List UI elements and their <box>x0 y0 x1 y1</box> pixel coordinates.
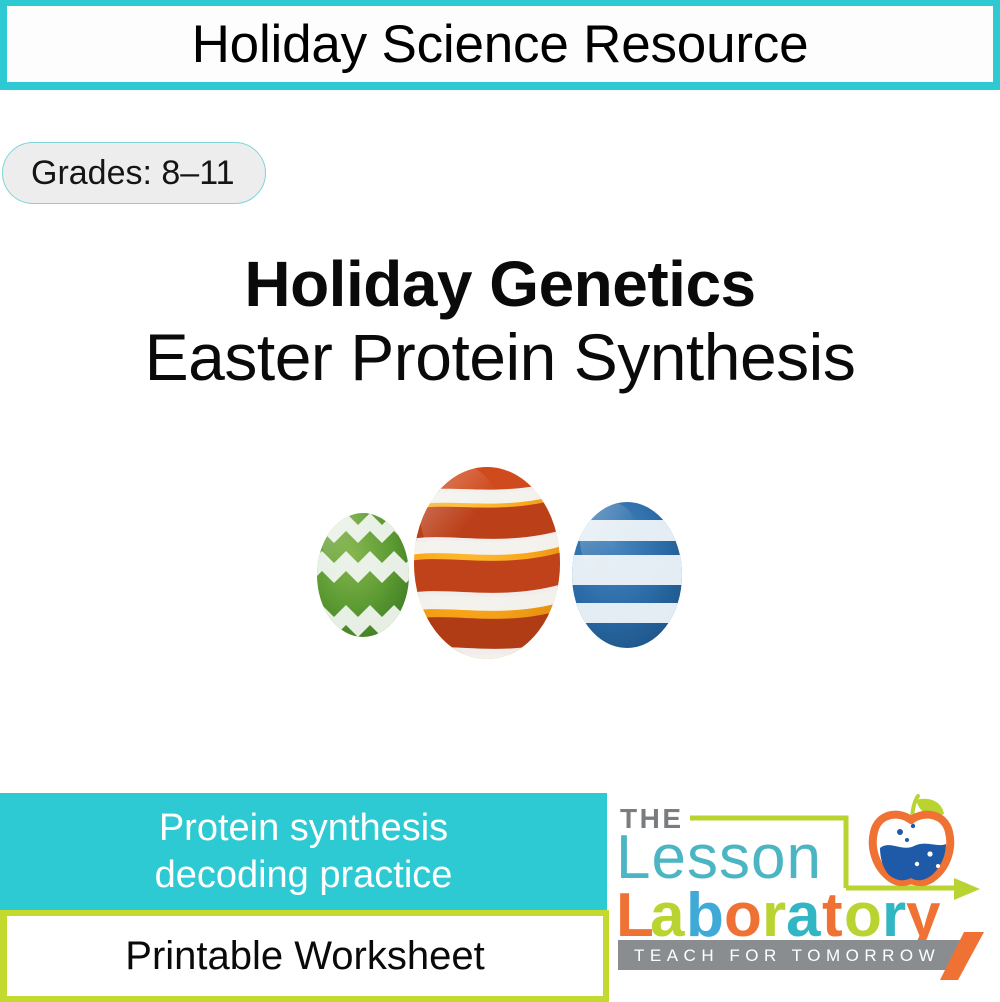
apple-flask-icon <box>873 796 950 882</box>
grades-badge-label: Grades: 8–11 <box>31 156 235 190</box>
green-zigzag-egg <box>310 506 418 637</box>
title-block: Holiday Genetics Easter Protein Synthesi… <box>0 252 1000 398</box>
logo-laboratory-letter-5: a <box>786 881 821 950</box>
header-banner: Holiday Science Resource <box>0 0 1000 90</box>
footer-description-line-2: decoding practice <box>155 852 453 898</box>
footer-description-line-1: Protein synthesis <box>159 805 448 851</box>
logo-laboratory-letter-1: a <box>650 881 685 950</box>
logo-laboratory-letter-6: t <box>822 881 843 950</box>
orange-wavy-egg <box>400 451 572 667</box>
logo-laboratory-letter-0: L <box>616 881 654 950</box>
footer-description-box: Protein synthesis decoding practice <box>0 793 607 910</box>
resource-title-main: Holiday Genetics <box>0 252 1000 317</box>
printable-worksheet-box: Printable Worksheet <box>0 910 609 1002</box>
logo-laboratory-letter-8: r <box>882 881 906 950</box>
resource-title-sub: Easter Protein Synthesis <box>0 317 1000 398</box>
logo-laboratory-letter-3: o <box>724 881 762 950</box>
header-banner-inner: Holiday Science Resource <box>7 6 993 82</box>
blue-striped-egg <box>566 502 691 648</box>
logo-laboratory-text: Laboratory <box>616 881 941 950</box>
easter-eggs-illustration <box>300 445 700 695</box>
logo-laboratory-letter-2: b <box>686 881 724 950</box>
lesson-laboratory-logo: THE Lesson Laboratory <box>612 790 1000 990</box>
logo-laboratory-letter-4: r <box>762 881 786 950</box>
logo-laboratory-letter-9: y <box>906 881 941 950</box>
logo-green-arrow-head <box>954 878 980 900</box>
printable-worksheet-label: Printable Worksheet <box>125 936 484 976</box>
logo-laboratory-letter-7: o <box>844 881 882 950</box>
page-title: Holiday Science Resource <box>192 18 809 71</box>
logo-tagline-text: TEACH FOR TOMORROW <box>634 946 940 965</box>
grades-badge: Grades: 8–11 <box>2 142 266 204</box>
